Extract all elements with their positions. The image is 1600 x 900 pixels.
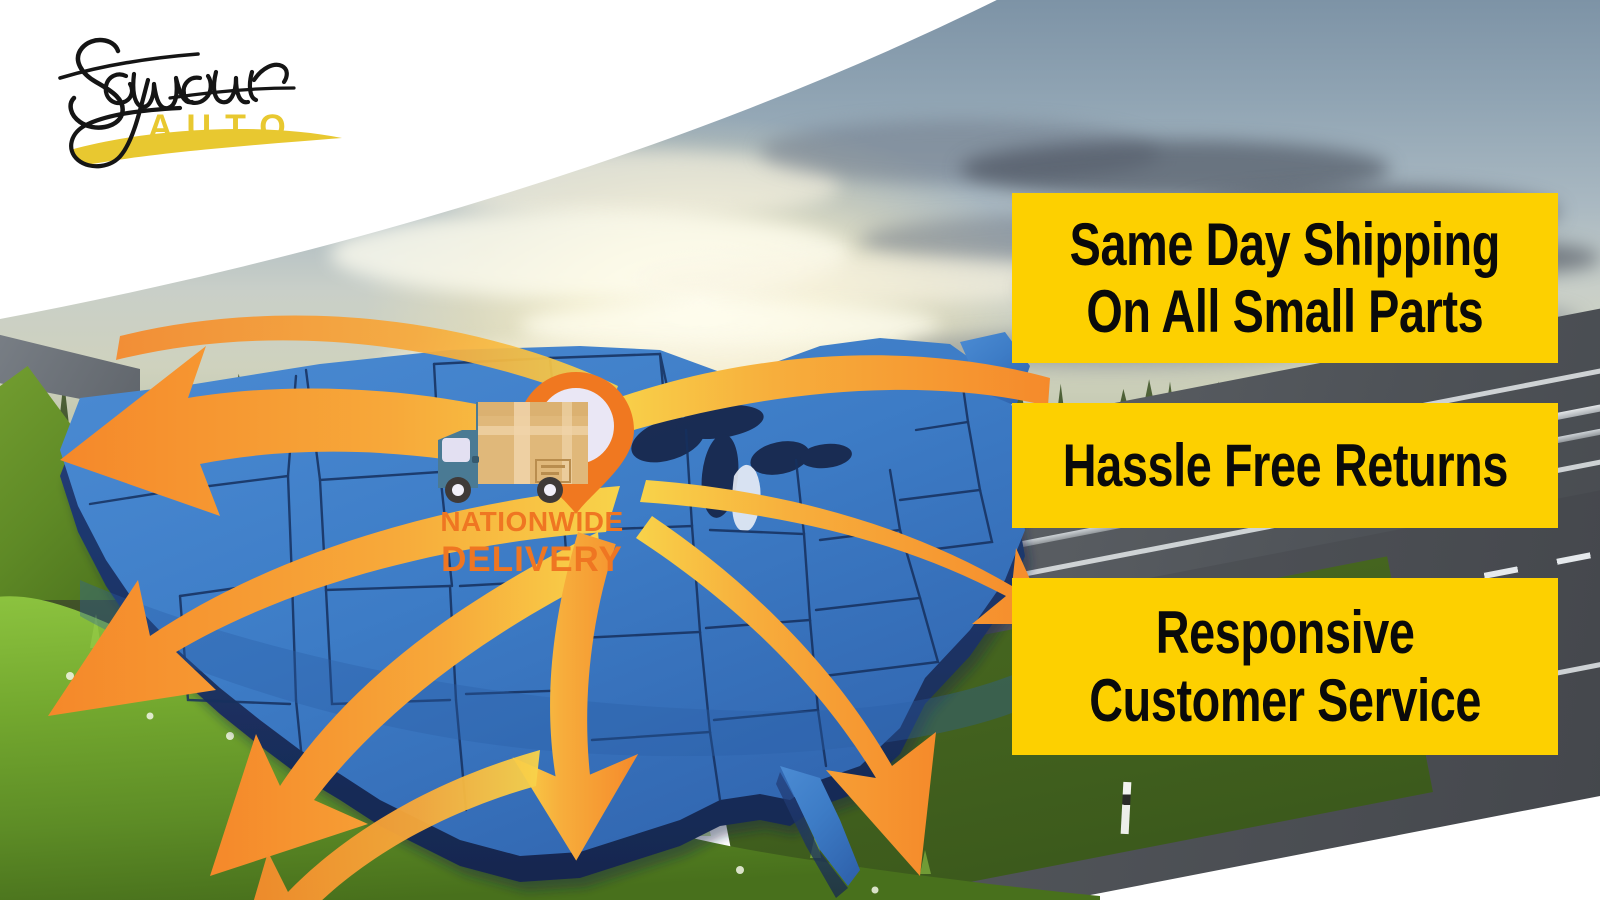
feature-line: Same Day Shipping — [1070, 211, 1500, 278]
feature-banner-hassle-free-returns[interactable]: Hassle Free Returns — [1012, 403, 1558, 528]
feature-banner-responsive-customer-service[interactable]: Responsive Customer Service — [1012, 578, 1558, 755]
feature-banner-text: Hassle Free Returns — [1062, 432, 1507, 499]
feature-banner-text: Responsive Customer Service — [1089, 599, 1481, 733]
feature-line: Hassle Free Returns — [1062, 432, 1507, 499]
feature-line: Customer Service — [1089, 667, 1481, 734]
feature-banner-same-day-shipping[interactable]: Same Day Shipping On All Small Parts — [1012, 193, 1558, 363]
logo-auto-text: AUTO — [148, 108, 300, 146]
feature-line: Responsive — [1089, 599, 1481, 666]
badge-line-2: DELIVERY — [432, 542, 632, 577]
seymour-auto-logo[interactable]: AUTO — [30, 18, 350, 173]
promo-banner-canvas: NATIONWIDE DELIVERY — [0, 0, 1600, 900]
badge-caption: NATIONWIDE DELIVERY — [432, 508, 632, 577]
svg-text:AUTO: AUTO — [148, 108, 300, 146]
feature-banner-text: Same Day Shipping On All Small Parts — [1070, 211, 1500, 345]
feature-line: On All Small Parts — [1070, 278, 1500, 345]
badge-line-1: NATIONWIDE — [432, 508, 632, 536]
